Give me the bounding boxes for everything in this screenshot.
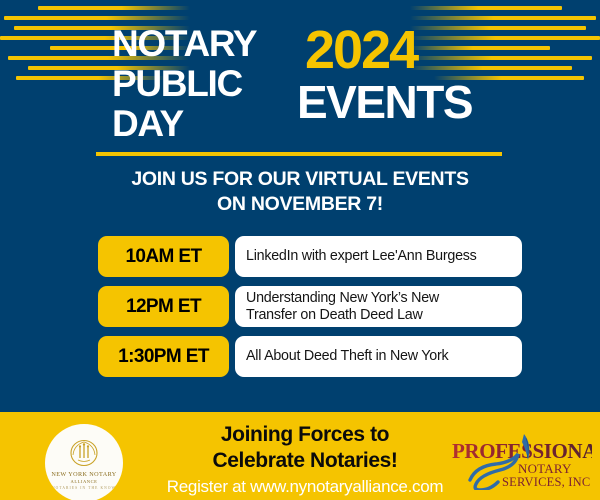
title-line-2: PUBLIC xyxy=(112,64,322,104)
event-row: 10AM ET LinkedIn with expert Lee'Ann Bur… xyxy=(98,236,522,277)
event-description-line-1: LinkedIn with expert Lee'Ann Burgess xyxy=(246,248,477,264)
headline: NOTARY PUBLIC DAY 2024 EVENTS xyxy=(0,24,600,144)
alliance-logo-subtitle: ALLIANCE xyxy=(71,479,98,484)
event-description-box: All About Deed Theft in New York xyxy=(235,336,522,377)
title-line-3: DAY xyxy=(112,104,322,144)
event-row: 1:30PM ET All About Deed Theft in New Yo… xyxy=(98,336,522,377)
alliance-logo-name: NEW YORK NOTARY xyxy=(51,471,116,478)
year-text: 2024 xyxy=(305,22,555,78)
ny-notary-alliance-logo: NEW YORK NOTARY ALLIANCE NOTARIES IN THE… xyxy=(45,424,123,500)
event-time-badge: 1:30PM ET xyxy=(98,336,229,377)
event-description-box: Understanding New York’s New Transfer on… xyxy=(235,286,522,327)
subtitle-line-2: ON NOVEMBER 7! xyxy=(0,192,600,217)
event-description-line-2: Transfer on Death Deed Law xyxy=(246,307,439,324)
event-time-badge: 12PM ET xyxy=(98,286,229,327)
event-time-badge: 10AM ET xyxy=(98,236,229,277)
subtitle: JOIN US FOR OUR VIRTUAL EVENTS ON NOVEMB… xyxy=(0,167,600,217)
event-schedule-list: 10AM ET LinkedIn with expert Lee'Ann Bur… xyxy=(98,236,522,386)
laurel-wreath-icon xyxy=(67,439,101,469)
svg-text:PROFESSIONAL: PROFESSIONAL xyxy=(452,439,592,463)
professional-notary-services-logo: PROFESSIONAL NOTARY SERVICES, INC xyxy=(450,428,592,490)
promotional-poster: NOTARY PUBLIC DAY 2024 EVENTS JOIN US FO… xyxy=(0,0,600,500)
event-description-box: LinkedIn with expert Lee'Ann Burgess xyxy=(235,236,522,277)
title-block-left: NOTARY PUBLIC DAY xyxy=(112,24,322,144)
yellow-divider-rule xyxy=(96,152,502,156)
register-url-text[interactable]: Register at www.nynotaryalliance.com xyxy=(150,476,460,498)
footer-message: Joining Forces to Celebrate Notaries! Re… xyxy=(150,422,460,498)
footer-band: NEW YORK NOTARY ALLIANCE NOTARIES IN THE… xyxy=(0,412,600,500)
subtitle-line-1: JOIN US FOR OUR VIRTUAL EVENTS xyxy=(0,167,600,192)
events-text: EVENTS xyxy=(297,78,555,126)
svg-text:NOTARY: NOTARY xyxy=(518,461,572,476)
svg-text:SERVICES, INC: SERVICES, INC xyxy=(502,475,590,489)
event-description-line-1: All About Deed Theft in New York xyxy=(246,348,448,364)
title-block-right: 2024 EVENTS xyxy=(305,22,555,126)
event-description-line-1: Understanding New York’s New xyxy=(246,290,439,306)
slogan-line-1: Joining Forces to xyxy=(150,422,460,448)
alliance-logo-tagline: NOTARIES IN THE KNOW xyxy=(52,486,116,490)
title-line-1: NOTARY xyxy=(112,24,322,64)
event-row: 12PM ET Understanding New York’s New Tra… xyxy=(98,286,522,327)
slogan-line-2: Celebrate Notaries! xyxy=(150,448,460,474)
